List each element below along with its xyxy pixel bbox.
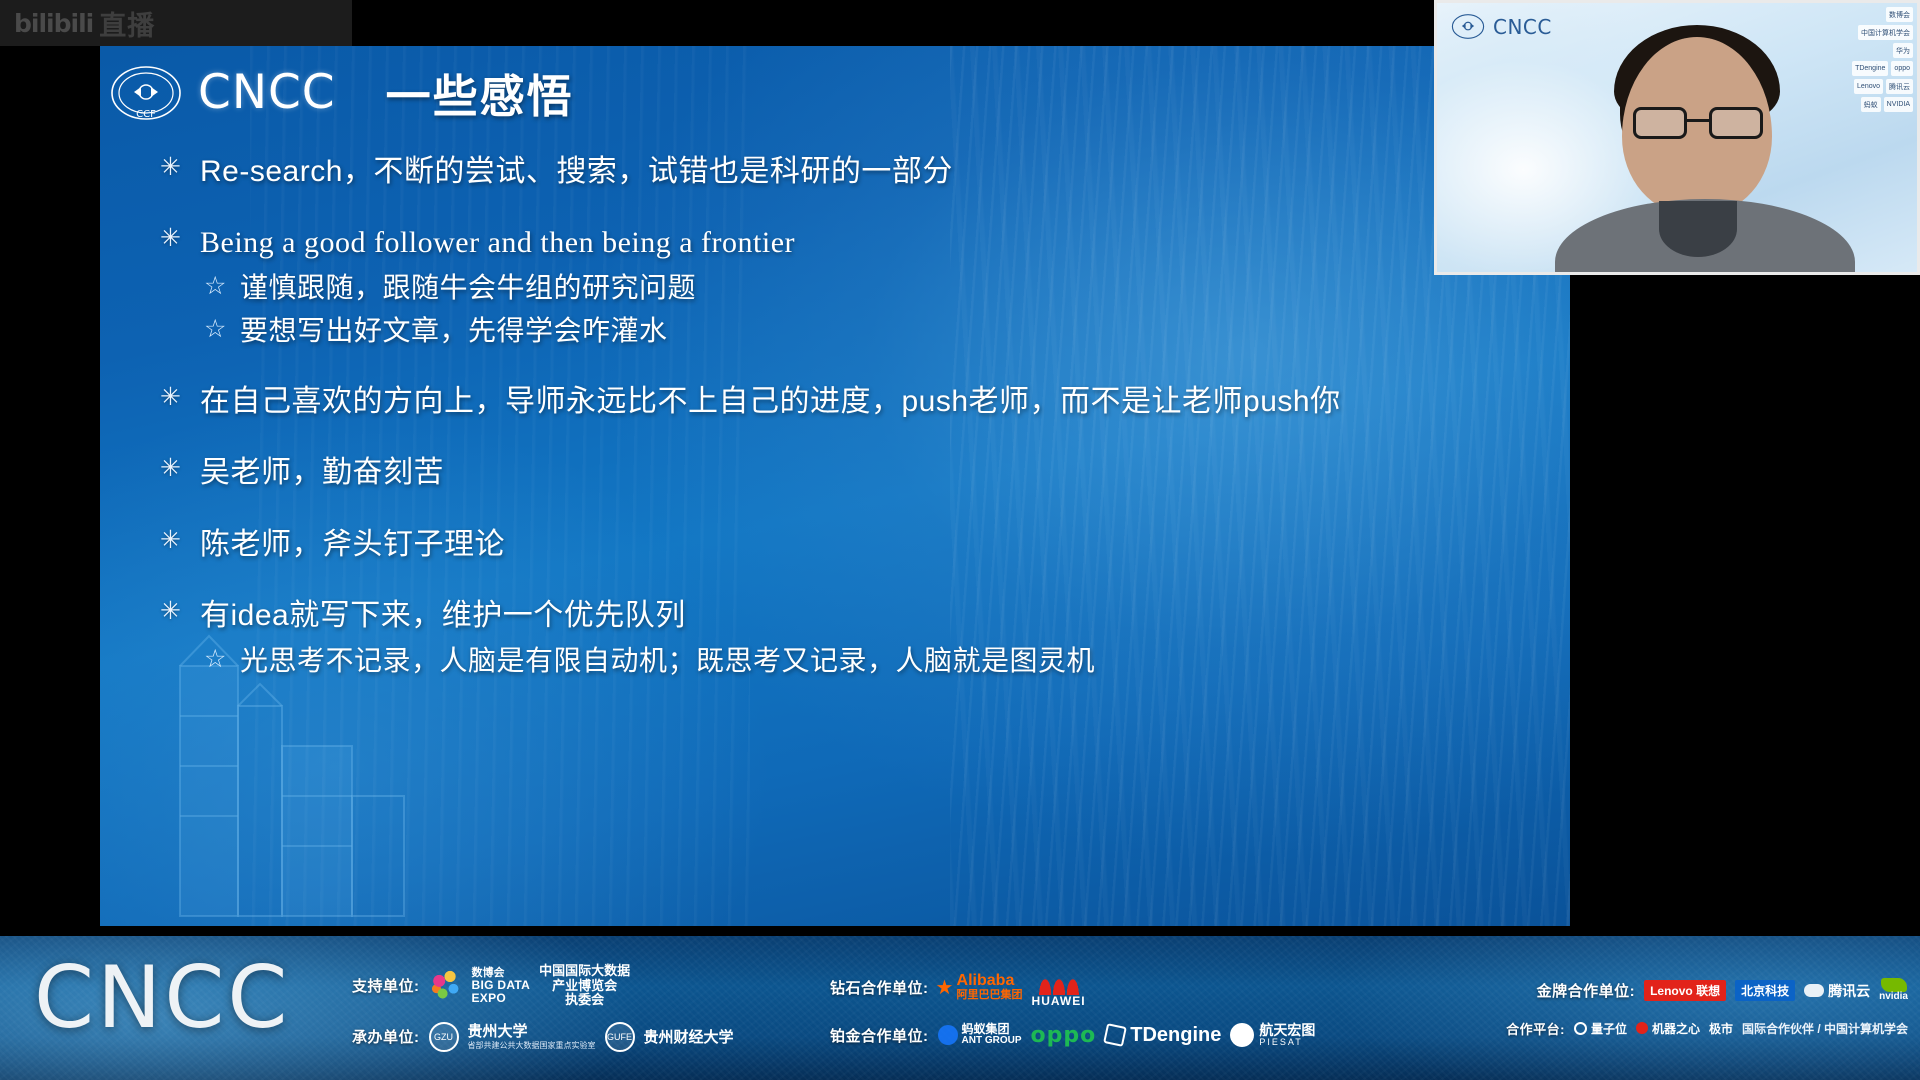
support-row: 支持单位: 数博会 BIG DATA EXPO 中国国际大数据 产业博览会 执委… xyxy=(352,964,734,1008)
bigdata-expo-icon xyxy=(429,969,463,1003)
qbitai-logo: 量子位 xyxy=(1574,1020,1627,1037)
sponsor-chip: 蚂蚁 xyxy=(1861,97,1881,112)
platform-label: 合作平台: xyxy=(1506,1019,1565,1038)
diamond-row: 钻石合作单位: ⭑ Alibaba 阿里巴巴集团 HUAWEI xyxy=(830,969,1315,1007)
alibaba-en: Alibaba xyxy=(957,973,1023,990)
banner-gold-column: 金牌合作单位: Lenovo 联想 北京科技 腾讯云 nvidia 合作平台: … xyxy=(1506,936,1908,1080)
bigdata-line2: 产业博览会 xyxy=(552,979,617,994)
platinum-label: 铂金合作单位: xyxy=(830,1025,929,1046)
host-university-name: 贵州大学 xyxy=(468,1024,596,1041)
bigdata-line3: 执委会 xyxy=(565,993,604,1008)
banner-partner-column: 钻石合作单位: ⭑ Alibaba 阿里巴巴集团 HUAWEI 铂金合作单位: xyxy=(830,936,1315,1080)
bullet-item-1: ✳ Re-search，不断的尝试、搜索，试错也是科研的一部分 xyxy=(160,154,1540,189)
bullet-marker-icon: ✳ xyxy=(160,384,200,412)
bullet-text: 在自己喜欢的方向上，导师永远比不上自己的进度，push老师，而不是让老师push… xyxy=(200,384,1341,419)
platinum-row: 铂金合作单位: 蚂蚁集团 ANT GROUP oppo TDengine xyxy=(830,1023,1315,1048)
star-marker-icon: ☆ xyxy=(204,314,240,344)
ant-mark-icon xyxy=(938,1025,958,1045)
bilibili-watermark: bilibili 直播 xyxy=(0,0,352,46)
tencent-mark-icon xyxy=(1804,984,1824,997)
sub-bullet-text: 光思考不记录，人脑是有限自动机；既思考又记录，人脑就是图灵机 xyxy=(240,644,1095,678)
bullet-marker-icon: ✳ xyxy=(160,225,200,253)
slide-brand-cncc: CNCC xyxy=(198,65,336,120)
huawei-fan-icon xyxy=(1036,969,1082,995)
host-label: 承办单位: xyxy=(352,1026,420,1047)
bullet-text: Re-search，不断的尝试、搜索，试错也是科研的一部分 xyxy=(200,154,953,189)
lenovo-logo: Lenovo 联想 xyxy=(1644,980,1726,1001)
sponsor-chip: 数博会 xyxy=(1886,7,1913,22)
webcam-brand-text: CNCC xyxy=(1493,15,1552,39)
host-university-lab: 省部共建公共大数据国家重点实验室 xyxy=(468,1041,596,1050)
svg-text:CCF: CCF xyxy=(136,109,156,120)
jiqizhixin-dot-icon xyxy=(1636,1022,1648,1034)
bullet-text: Being a good follower and then being a f… xyxy=(200,225,795,260)
glasses-icon xyxy=(1633,107,1763,141)
oppo-logo: oppo xyxy=(1031,1023,1097,1048)
sponsor-chip: Lenovo xyxy=(1854,79,1883,94)
gold-label: 金牌合作单位: xyxy=(1537,980,1636,1001)
piesat-cn: 航天宏图 xyxy=(1259,1023,1315,1038)
bigdata-en2: EXPO xyxy=(472,992,531,1005)
bullet-item-3: ✳ 在自己喜欢的方向上，导师永远比不上自己的进度，push老师，而不是让老师pu… xyxy=(160,384,1540,419)
ccf-emblem-icon xyxy=(1451,13,1485,40)
bullet-item-4: ✳ 吴老师，勤奋刻苦 xyxy=(160,455,1540,490)
alibaba-logo: ⭑ Alibaba 阿里巴巴集团 xyxy=(938,972,1023,1003)
bullet-text: 有idea就写下来，维护一个优先队列 xyxy=(200,598,686,633)
bullet-text: 陈老师，斧头钉子理论 xyxy=(200,527,505,562)
guizhou-university-emblem-icon: GZU xyxy=(429,1022,459,1052)
banner-cncc-logo: CNCC xyxy=(34,948,290,1048)
screen: bilibili 直播 xyxy=(0,0,1920,1080)
bullet-marker-icon: ✳ xyxy=(160,455,200,483)
star-marker-icon: ☆ xyxy=(204,644,240,674)
banner-tail-note: 国际合作伙伴 / 中国计算机学会 xyxy=(1742,1020,1908,1037)
qbitai-text: 量子位 xyxy=(1591,1020,1627,1037)
bilibili-live-label: 直播 xyxy=(99,4,155,43)
bullet-marker-icon: ✳ xyxy=(160,527,200,555)
qbitai-ring-icon xyxy=(1574,1022,1587,1035)
sponsor-chip: 腾讯云 xyxy=(1886,79,1913,94)
huawei-text: HUAWEI xyxy=(1032,995,1086,1007)
support-label: 支持单位: xyxy=(352,975,420,996)
tencent-text: 腾讯云 xyxy=(1828,981,1870,1001)
beijing-tech-logo: 北京科技 xyxy=(1735,980,1795,1001)
sub-bullet-text: 要想写出好文章，先得学会咋灌水 xyxy=(240,314,668,348)
jishi-logo: 极市 xyxy=(1709,1020,1733,1037)
platform-row: 合作平台: 量子位 机器之心 极市 国际合作伙伴 / 中国计算机学会 xyxy=(1506,1019,1908,1038)
sponsor-chip: 华为 xyxy=(1893,43,1913,58)
host-row: 承办单位: GZU 贵州大学 省部共建公共大数据国家重点实验室 GUFE 贵州财… xyxy=(352,1022,734,1052)
tdengine-text: TDengine xyxy=(1130,1024,1221,1047)
jiqizhixin-logo: 机器之心 xyxy=(1636,1020,1700,1037)
bigdata-line1: 中国国际大数据 xyxy=(539,964,630,979)
alibaba-mark-icon: ⭑ xyxy=(938,972,952,1003)
diamond-label: 钻石合作单位: xyxy=(830,977,929,998)
tencent-cloud-logo: 腾讯云 xyxy=(1804,981,1870,1001)
host-university2-name: 贵州财经大学 xyxy=(644,1026,734,1047)
jiqizhixin-text: 机器之心 xyxy=(1652,1020,1700,1037)
piesat-mark-icon xyxy=(1230,1023,1254,1047)
sponsor-chip: TDengine xyxy=(1852,61,1888,76)
alibaba-cn: 阿里巴巴集团 xyxy=(957,990,1023,1002)
nvidia-text: nvidia xyxy=(1879,992,1908,1003)
huawei-logo: HUAWEI xyxy=(1032,969,1086,1007)
slide-header: CCF CNCC 一些感悟 xyxy=(110,60,574,125)
bullet-item-2: ✳ Being a good follower and then being a… xyxy=(160,225,1540,260)
nvidia-logo: nvidia xyxy=(1879,978,1908,1003)
bigdata-expo-text: 数博会 BIG DATA EXPO xyxy=(472,968,531,1005)
bigdata-en1: BIG DATA xyxy=(472,979,531,992)
presentation-slide: CCF CNCC 一些感悟 ✳ Re-search，不断的尝试、搜索，试错也是科… xyxy=(100,46,1570,926)
bigdata-expo-full-name: 中国国际大数据 产业博览会 执委会 xyxy=(539,964,630,1008)
sponsor-chip: 中国计算机学会 xyxy=(1858,25,1913,40)
bullet-item-5: ✳ 陈老师，斧头钉子理论 xyxy=(160,527,1540,562)
star-marker-icon: ☆ xyxy=(204,271,240,301)
ant-group-logo: 蚂蚁集团 ANT GROUP xyxy=(938,1023,1022,1046)
ccf-emblem-icon: CCF xyxy=(110,65,182,121)
sub-bullet-text: 谨慎跟随，跟随牛会牛组的研究问题 xyxy=(240,271,696,305)
sub-bullet-item: ☆ 光思考不记录，人脑是有限自动机；既思考又记录，人脑就是图灵机 xyxy=(204,644,1540,678)
piesat-en: PIESAT xyxy=(1259,1038,1315,1047)
bullet-marker-icon: ✳ xyxy=(160,598,200,626)
guizhou-finance-university-emblem-icon: GUFE xyxy=(605,1022,635,1052)
banner-support-column: 支持单位: 数博会 BIG DATA EXPO 中国国际大数据 产业博览会 执委… xyxy=(352,936,734,1080)
sponsor-banner: CNCC 支持单位: 数博会 BIG DATA EXPO 中国国际大数据 产业博… xyxy=(0,936,1920,1080)
bullet-item-6: ✳ 有idea就写下来，维护一个优先队列 xyxy=(160,598,1540,633)
piesat-logo: 航天宏图 PIESAT xyxy=(1230,1023,1315,1047)
page-title: 一些感悟 xyxy=(386,60,574,125)
bullet-marker-icon: ✳ xyxy=(160,154,200,182)
slide-body: ✳ Re-search，不断的尝试、搜索，试错也是科研的一部分 ✳ Being … xyxy=(160,154,1540,677)
webcam-pip[interactable]: CNCC 数博会 中国计算机学会 华为 TDengine oppo Lenovo… xyxy=(1434,0,1920,275)
jishi-text: 极市 xyxy=(1709,1020,1733,1037)
sub-bullet-item: ☆ 要想写出好文章，先得学会咋灌水 xyxy=(204,314,1540,348)
nvidia-eye-icon xyxy=(1881,978,1907,992)
ant-en: ANT GROUP xyxy=(962,1036,1022,1047)
bullet-text: 吴老师，勤奋刻苦 xyxy=(200,455,444,490)
sponsor-chip: NVIDIA xyxy=(1884,97,1913,112)
gold-row: 金牌合作单位: Lenovo 联想 北京科技 腾讯云 nvidia xyxy=(1537,978,1908,1003)
webcam-sponsor-wall: 数博会 中国计算机学会 华为 TDengine oppo Lenovo 腾讯云 … xyxy=(1797,7,1913,207)
speaker-collar xyxy=(1659,201,1737,257)
bilibili-logo-text: bilibili xyxy=(14,9,93,38)
webcam-cncc-logo: CNCC xyxy=(1451,13,1552,40)
tdengine-mark-icon xyxy=(1103,1023,1127,1047)
sponsor-chip: oppo xyxy=(1891,61,1913,76)
tdengine-logo: TDengine xyxy=(1105,1024,1221,1047)
sub-bullet-item: ☆ 谨慎跟随，跟随牛会牛组的研究问题 xyxy=(204,271,1540,305)
